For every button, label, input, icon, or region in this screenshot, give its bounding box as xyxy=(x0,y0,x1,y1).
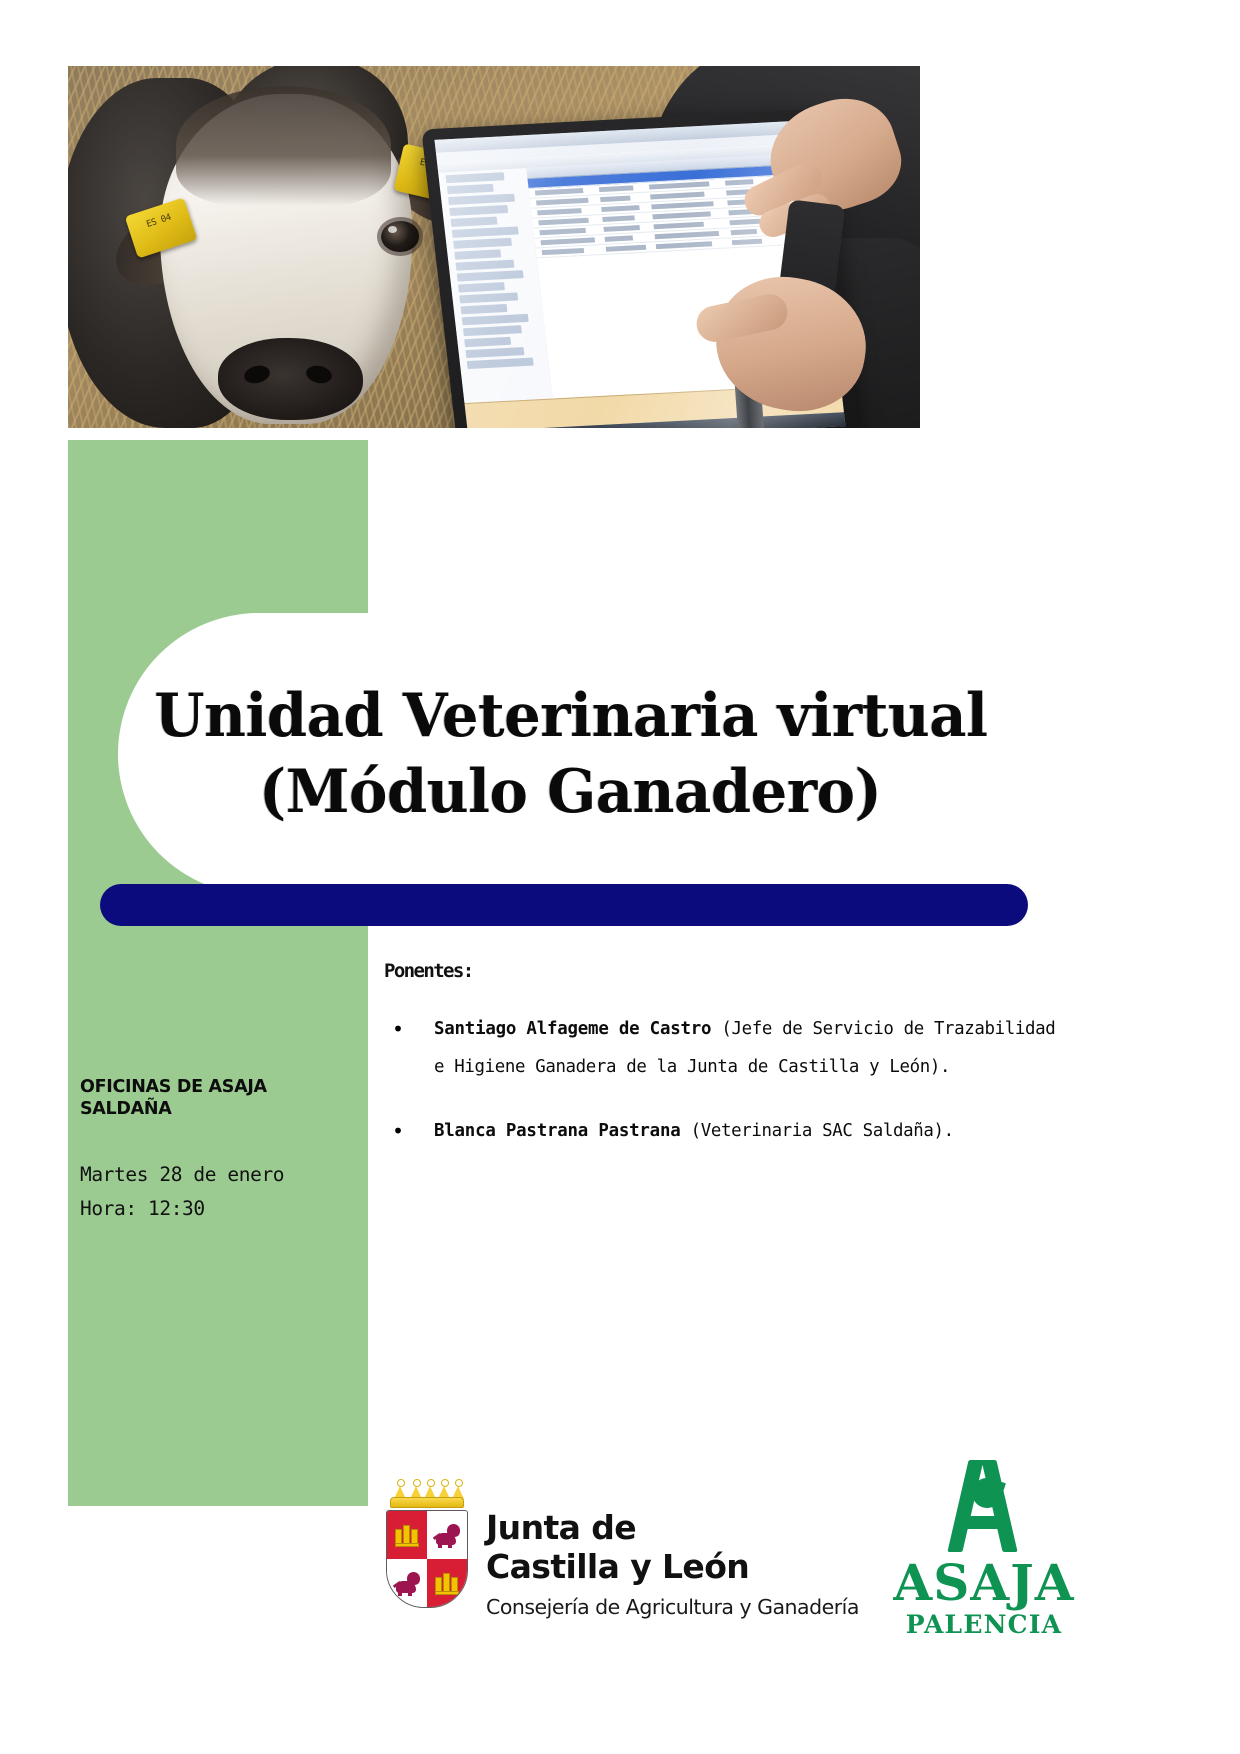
asaja-logo: ASAJA PALENCIA xyxy=(884,1460,1084,1640)
speaker-role: (Veterinaria SAC Saldaña). xyxy=(680,1121,953,1141)
junta-logo-text: Junta de Castilla y León Consejería de A… xyxy=(486,1482,859,1622)
venue-line-2: SALDAÑA xyxy=(80,1098,360,1120)
calf-muzzle xyxy=(218,338,363,420)
speaker-name: Santiago Alfageme de Castro xyxy=(434,1019,711,1039)
speaker-name: Blanca Pastrana Pastrana xyxy=(434,1121,680,1141)
logos-row: Junta de Castilla y León Consejería de A… xyxy=(384,1482,1056,1672)
junta-castilla-leon-logo: Junta de Castilla y León Consejería de A… xyxy=(384,1482,859,1622)
photo-scene: ES 04 ES 12 xyxy=(68,66,920,428)
list-item: Blanca Pastrana Pastrana (Veterinaria SA… xyxy=(384,1112,1056,1150)
event-date: Martes 28 de enero xyxy=(80,1158,370,1192)
venue-block: OFICINAS DE ASAJA SALDAÑA xyxy=(80,1076,360,1120)
coat-of-arms-icon xyxy=(384,1482,470,1608)
junta-department: Consejería de Agricultura y Ganadería xyxy=(486,1592,859,1622)
speakers-list: Santiago Alfageme de Castro (Jefe de Ser… xyxy=(384,1010,1056,1150)
speakers-section: Ponentes: Santiago Alfageme de Castro (J… xyxy=(384,960,1056,1176)
asaja-province: PALENCIA xyxy=(884,1610,1084,1640)
castle-quarter-2 xyxy=(427,1559,467,1607)
title-panel: Unidad Veterinaria virtual (Módulo Ganad… xyxy=(118,613,1023,895)
lion-quarter-1 xyxy=(427,1511,467,1559)
calf-forehead-shading xyxy=(176,86,391,206)
junta-line-1: Junta de xyxy=(486,1508,859,1547)
speakers-heading: Ponentes: xyxy=(384,960,1056,982)
castle-quarter-1 xyxy=(387,1511,427,1559)
venue-line-1: OFICINAS DE ASAJA xyxy=(80,1076,360,1098)
event-time: Hora: 12:30 xyxy=(80,1192,370,1226)
calf-eye xyxy=(381,221,419,252)
list-item: Santiago Alfageme de Castro (Jefe de Ser… xyxy=(384,1010,1056,1086)
crown-icon xyxy=(390,1482,464,1508)
poster-title-line-1: Unidad Veterinaria virtual xyxy=(154,678,987,754)
junta-line-2: Castilla y León xyxy=(486,1547,859,1586)
schedule-block: Martes 28 de enero Hora: 12:30 xyxy=(80,1158,370,1226)
navy-divider-bar xyxy=(100,884,1028,926)
shield-icon xyxy=(386,1510,468,1608)
header-photo: ES 04 ES 12 xyxy=(68,66,920,428)
asaja-wordmark: ASAJA xyxy=(884,1556,1084,1610)
asaja-a-mark-icon xyxy=(932,1460,1036,1552)
lion-quarter-2 xyxy=(387,1559,427,1607)
poster-title-line-2: (Módulo Ganadero) xyxy=(259,754,881,830)
green-sidebar-panel xyxy=(68,440,368,1506)
